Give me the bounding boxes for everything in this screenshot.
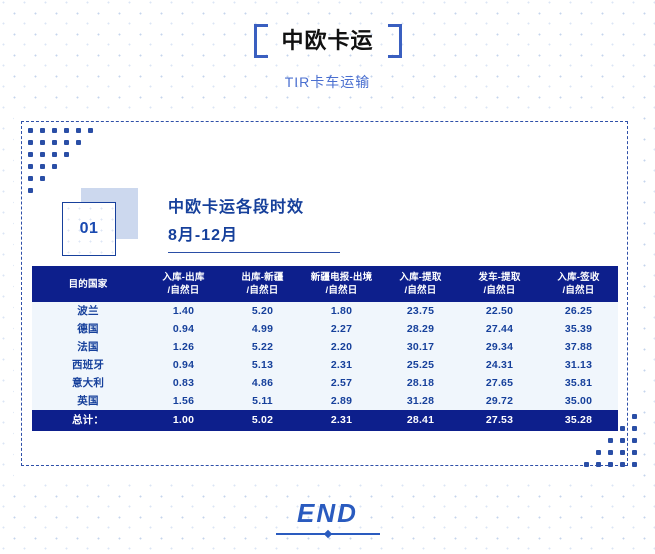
dot [84,160,96,172]
cell-value: 23.75 [381,302,460,320]
cell-value: 1.56 [144,392,223,410]
dot [580,446,592,458]
cell-value: 22.50 [460,302,539,320]
cell-total-value: 28.41 [381,410,460,431]
dot [604,458,616,470]
cell-total-value: 1.00 [144,410,223,431]
column-header-line-1: 目的国家 [69,279,108,290]
section-heading-line-2: 8月-12月 [168,224,348,248]
cell-value: 28.29 [381,320,460,338]
cell-value: 31.13 [539,356,618,374]
cell-value: 29.34 [460,338,539,356]
table-header-row: 目的国家 入库-出库 /自然日 出库-新疆 /自然日 新疆电报-出境 /自然日 … [32,266,618,302]
dot [84,124,96,136]
table-row: 波兰 1.40 5.20 1.80 23.75 22.50 26.25 [32,302,618,320]
dot [628,446,640,458]
dot [568,434,580,446]
dot [48,184,60,196]
column-header-line-2: /自然日 [539,284,618,297]
cell-value: 5.20 [223,302,302,320]
cell-value: 5.22 [223,338,302,356]
column-header-line-1: 新疆电报-出境 [311,272,373,283]
cell-value: 5.13 [223,356,302,374]
bracket-right-icon [388,24,402,58]
dot [84,136,96,148]
cell-value: 2.27 [302,320,381,338]
cell-value: 25.25 [381,356,460,374]
table-row: 英国 1.56 5.11 2.89 31.28 29.72 35.00 [32,392,618,410]
column-header-line-2: /自然日 [223,284,302,297]
column-header-line-1: 入库-提取 [399,272,441,283]
dot [48,160,60,172]
cell-country: 西班牙 [32,356,144,374]
bracket-left-icon [253,24,267,58]
dot [84,172,96,184]
column-header-outbound-xinjiang: 出库-新疆 /自然日 [223,266,302,302]
column-header-inbound-outbound: 入库-出库 /自然日 [144,266,223,302]
badge-number: 01 [80,220,99,238]
cell-value: 0.83 [144,374,223,392]
dot [48,148,60,160]
dot [580,434,592,446]
dot [568,446,580,458]
cell-country: 德国 [32,320,144,338]
cell-value: 2.57 [302,374,381,392]
page-subtitle: TIR卡车运输 [285,72,371,92]
dot [48,136,60,148]
cell-value: 4.99 [223,320,302,338]
cell-value: 2.89 [302,392,381,410]
dot [60,172,72,184]
dot [60,148,72,160]
dot [616,434,628,446]
cell-value: 31.28 [381,392,460,410]
dot [604,446,616,458]
column-header-depart-pickup: 发车-提取 /自然日 [460,266,539,302]
dot [592,458,604,470]
dot [24,160,36,172]
cell-value: 29.72 [460,392,539,410]
dot [628,410,640,422]
section-heading-rule [168,252,340,253]
dot [24,184,36,196]
column-header-line-1: 出库-新疆 [241,272,283,283]
dot [604,434,616,446]
cell-value: 30.17 [381,338,460,356]
dot [72,160,84,172]
table-row: 法国 1.26 5.22 2.20 30.17 29.34 37.88 [32,338,618,356]
cell-value: 2.31 [302,356,381,374]
table-row: 西班牙 0.94 5.13 2.31 25.25 24.31 31.13 [32,356,618,374]
dot [72,148,84,160]
section-badge: 01 [62,188,140,256]
cell-value: 35.00 [539,392,618,410]
dot [628,422,640,434]
cell-value: 24.31 [460,356,539,374]
cell-value: 5.11 [223,392,302,410]
table-total-row: 总计： 1.00 5.02 2.31 28.41 27.53 35.28 [32,410,618,431]
cell-value: 28.18 [381,374,460,392]
column-header-line-2: /自然日 [460,284,539,297]
dot [36,124,48,136]
title-block: 中欧卡运 [253,20,401,62]
dot [84,148,96,160]
dot [24,124,36,136]
column-header-country: 目的国家 [32,266,144,302]
table-header: 目的国家 入库-出库 /自然日 出库-新疆 /自然日 新疆电报-出境 /自然日 … [32,266,618,302]
cell-value: 35.39 [539,320,618,338]
dot [592,446,604,458]
cell-value: 27.44 [460,320,539,338]
dot [60,160,72,172]
dot [592,434,604,446]
dot [36,136,48,148]
column-header-line-2: /自然日 [144,284,223,297]
cell-value: 26.25 [539,302,618,320]
table-row: 德国 0.94 4.99 2.27 28.29 27.44 35.39 [32,320,618,338]
dot [36,172,48,184]
end-mark: END [276,498,380,535]
cell-total-value: 5.02 [223,410,302,431]
dot [628,434,640,446]
cell-country: 波兰 [32,302,144,320]
dot [36,184,48,196]
dot [24,148,36,160]
column-header-line-2: /自然日 [381,284,460,297]
column-header-xinjiang-exit: 新疆电报-出境 /自然日 [302,266,381,302]
badge-box: 01 [62,202,116,256]
dot [48,172,60,184]
dot [72,136,84,148]
dot [72,124,84,136]
section-heading-line-1: 中欧卡运各段时效 [168,196,348,220]
dot-decoration-top-left [24,124,96,196]
cell-value: 1.26 [144,338,223,356]
dot [36,148,48,160]
column-header-line-1: 发车-提取 [478,272,520,283]
table-row: 意大利 0.83 4.86 2.57 28.18 27.65 35.81 [32,374,618,392]
cell-value: 1.40 [144,302,223,320]
dot [60,136,72,148]
cell-country: 英国 [32,392,144,410]
dot [60,124,72,136]
cell-country: 法国 [32,338,144,356]
dot [36,160,48,172]
cell-total-label: 总计： [32,410,144,431]
cell-value: 37.88 [539,338,618,356]
cell-value: 1.80 [302,302,381,320]
column-header-inbound-signed: 入库-签收 /自然日 [539,266,618,302]
cell-value: 0.94 [144,320,223,338]
end-label: END [276,498,380,529]
cell-value: 2.20 [302,338,381,356]
dot [580,458,592,470]
page-title: 中欧卡运 [267,24,387,58]
dot [616,458,628,470]
cell-value: 4.86 [223,374,302,392]
cell-value: 0.94 [144,356,223,374]
dot [72,172,84,184]
cell-total-value: 2.31 [302,410,381,431]
cell-total-value: 27.53 [460,410,539,431]
cell-total-value: 35.28 [539,410,618,431]
cell-country: 意大利 [32,374,144,392]
timeliness-table: 目的国家 入库-出库 /自然日 出库-新疆 /自然日 新疆电报-出境 /自然日 … [32,266,618,431]
column-header-line-1: 入库-签收 [557,272,599,283]
page-header: 中欧卡运 TIR卡车运输 [0,0,655,104]
dot [628,458,640,470]
column-header-inbound-pickup: 入库-提取 /自然日 [381,266,460,302]
table-body: 波兰 1.40 5.20 1.80 23.75 22.50 26.25 德国 0… [32,302,618,431]
cell-value: 35.81 [539,374,618,392]
dot [568,458,580,470]
section-heading: 中欧卡运各段时效 8月-12月 [168,196,348,253]
dot [24,172,36,184]
column-header-line-1: 入库-出库 [162,272,204,283]
column-header-line-2: /自然日 [302,284,381,297]
dot [48,124,60,136]
cell-value: 27.65 [460,374,539,392]
end-rule [276,533,380,535]
dot [616,446,628,458]
dot [24,136,36,148]
